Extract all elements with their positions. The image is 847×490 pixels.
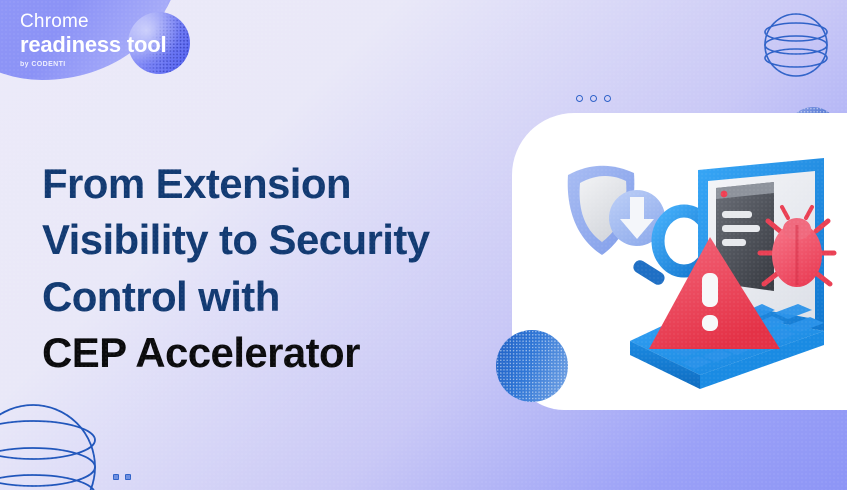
page-title: From Extension Visibility to Security Co… — [42, 156, 522, 381]
brand-logo[interactable]: Chrome readiness tool by CODENTI — [20, 12, 166, 68]
dot-3 — [604, 95, 611, 102]
headline-line-3: Control with — [42, 273, 280, 320]
dot-2 — [590, 95, 597, 102]
logo-line-chrome: Chrome — [20, 12, 166, 31]
banner-canvas: Chrome readiness tool by CODENTI From Ex… — [0, 0, 847, 490]
laptop-security-illustration — [512, 113, 847, 410]
wireframe-sphere-top-right-icon — [759, 8, 833, 82]
square-dot-2 — [125, 474, 131, 480]
headline-line-1: From Extension — [42, 160, 351, 207]
wireframe-sphere-bottom-left-icon — [0, 392, 108, 490]
two-square-dots — [113, 474, 131, 480]
logo-byline: by CODENTI — [20, 61, 166, 68]
logo-line-readiness-tool: readiness tool — [20, 34, 166, 56]
three-dot-row — [576, 95, 611, 102]
square-dot-1 — [113, 474, 119, 480]
dot-1 — [576, 95, 583, 102]
headline-line-2: Visibility to Security — [42, 216, 429, 263]
headline-line-4-accent: CEP Accelerator — [42, 329, 360, 376]
